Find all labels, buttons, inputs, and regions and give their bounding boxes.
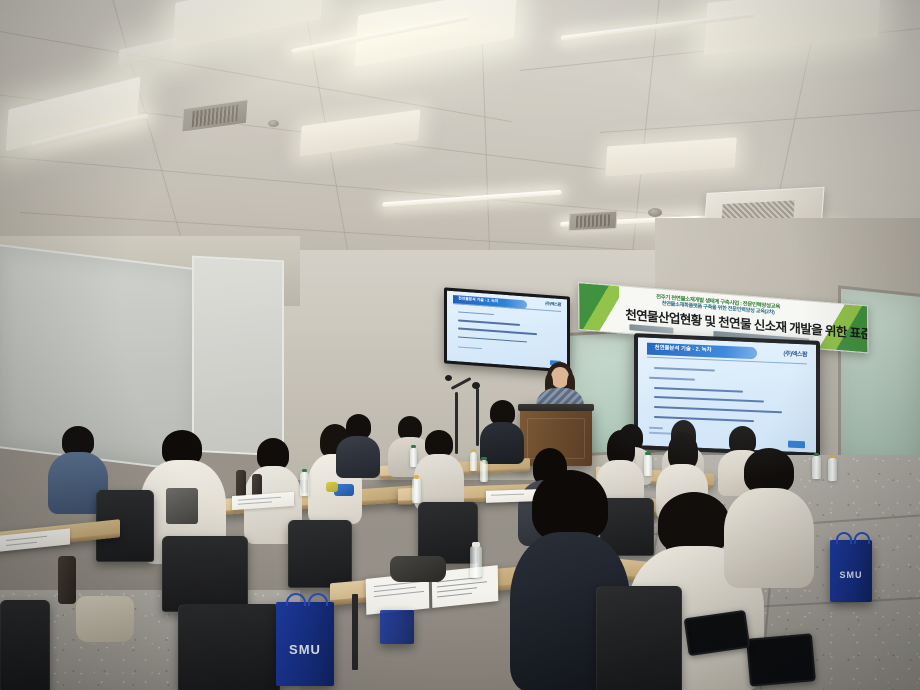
slide-text-line: [654, 367, 715, 372]
chair: [0, 600, 50, 690]
slide-text-line: [649, 377, 695, 381]
backpack: [390, 556, 446, 582]
tote-handle: [854, 532, 870, 544]
seminar-room-photo: 전주기 천연물소재개발 생태계 구축사업 : 전문인력양성교육 천연물소재화플랫…: [0, 0, 920, 690]
attendee-body: [724, 488, 814, 588]
ceiling-vent: [569, 211, 618, 232]
slide-logo: (주)엑스팜: [545, 301, 561, 308]
slide-logo: (주)엑스팜: [783, 348, 807, 358]
banner-logo-left: [629, 324, 673, 334]
slide-text-line: [458, 336, 528, 343]
water-bottle: [480, 460, 488, 482]
slide-text-line: [654, 406, 782, 413]
chair: [162, 536, 248, 612]
water-bottle: [412, 478, 421, 503]
slide-header-text: 천연물분석 기술 - 2. 녹차: [647, 343, 757, 358]
banner-accent-left: [579, 283, 619, 332]
chair: [288, 520, 352, 588]
water-bottle: [470, 546, 482, 578]
tote-bag-smu: SMU: [276, 602, 334, 686]
chair: [418, 502, 478, 564]
water-bottle: [300, 472, 309, 496]
ceiling-speaker-icon: [268, 120, 279, 127]
slide-text-line: [458, 311, 494, 315]
water-bottle: [644, 455, 652, 476]
slide-footer-tag: [788, 441, 806, 448]
attendee-hair: [425, 430, 453, 457]
travel-tumbler: [58, 556, 76, 604]
travel-tumbler: [236, 470, 246, 497]
tote-logo-text: SMU: [289, 642, 321, 657]
presentation-slide-secondary: 천연물분석 기술 - 2. 녹차 (주)엑스팜: [447, 291, 567, 370]
tote-logo-text: SMU: [840, 570, 863, 580]
tote-handle: [308, 593, 328, 606]
small-item: [326, 482, 338, 492]
ceiling-speaker-icon: [648, 208, 662, 217]
attendee-body: [336, 436, 380, 478]
slide-text-line: [458, 319, 520, 325]
tote-handle: [286, 593, 306, 606]
water-bottle: [828, 458, 837, 481]
podium-top: [518, 404, 594, 411]
slide-text-line: [654, 396, 764, 403]
tablet: [746, 633, 816, 687]
microphone-icon: [445, 375, 452, 381]
whiteboard-panel: [192, 256, 284, 457]
slide-text-line: [458, 328, 537, 335]
attendee: [414, 430, 464, 508]
attendee: [336, 414, 380, 474]
chair: [178, 604, 280, 690]
tshirt-graphic: [166, 488, 198, 524]
tote-bag-smu: SMU: [830, 540, 872, 602]
chair: [596, 586, 682, 690]
microphone-stand: [476, 388, 479, 446]
tote-handle: [836, 532, 852, 544]
microphone-icon: [472, 382, 480, 389]
desk-leg: [352, 594, 358, 670]
attendee: [724, 448, 814, 584]
left-projection-screen: 천연물분석 기술 - 2. 녹차 (주)엑스팜: [444, 287, 570, 372]
slide-text-line: [654, 387, 743, 393]
slide-text-line: [458, 346, 482, 349]
tote-bag-small: [380, 610, 414, 644]
attendee-hair: [658, 492, 730, 554]
water-bottle: [470, 452, 477, 471]
handbag: [76, 596, 134, 642]
